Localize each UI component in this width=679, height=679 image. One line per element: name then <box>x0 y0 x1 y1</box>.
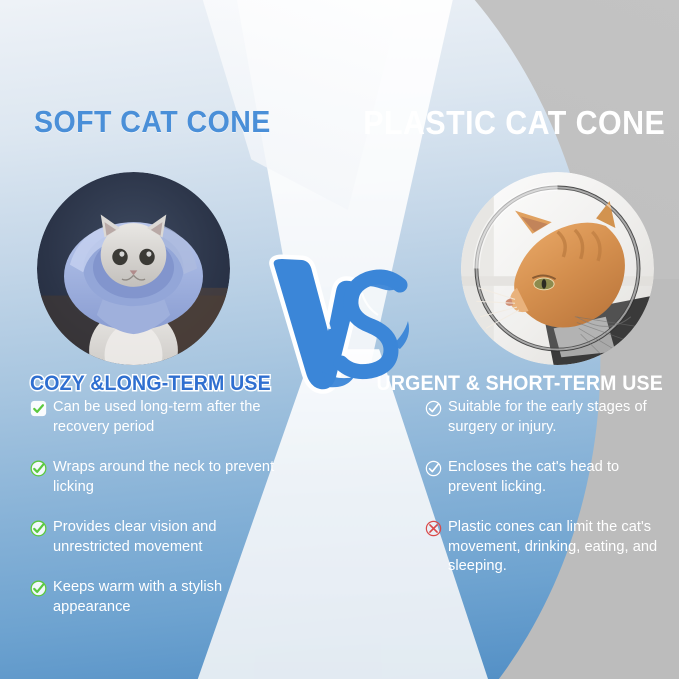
list-item-text: Can be used long-term after the recovery… <box>53 398 280 437</box>
list-item-text: Wraps around the neck to prevent licking <box>53 458 280 497</box>
check-icon <box>30 580 47 597</box>
check-circle-icon <box>425 400 442 417</box>
left-subtitle: COZY &LONG-TERM USE <box>30 372 271 396</box>
list-item: Encloses the cat's head to prevent licki… <box>425 458 663 497</box>
list-item: Provides clear vision and unrestricted m… <box>30 518 280 557</box>
check-circle-icon <box>425 460 442 477</box>
left-title: SOFT CAT CONE <box>34 104 271 140</box>
left-feature-list: Can be used long-term after the recovery… <box>30 398 280 638</box>
right-title: PLASTIC CAT CONE <box>363 104 665 142</box>
left-product-photo <box>37 172 230 365</box>
list-item: Keeps warm with a stylish appearance <box>30 578 280 617</box>
check-icon <box>30 400 47 417</box>
check-icon <box>30 520 47 537</box>
list-item-text: Provides clear vision and unrestricted m… <box>53 518 280 557</box>
cross-circle-icon <box>425 520 442 537</box>
list-item: Plastic cones can limit the cat's moveme… <box>425 518 663 577</box>
vs-badge <box>262 249 422 399</box>
right-product-photo <box>461 172 654 365</box>
check-icon <box>30 460 47 477</box>
list-item: Wraps around the neck to prevent licking <box>30 458 280 497</box>
list-item: Suitable for the early stages of surgery… <box>425 398 663 437</box>
list-item-text: Keeps warm with a stylish appearance <box>53 578 280 617</box>
list-item: Can be used long-term after the recovery… <box>30 398 280 437</box>
list-item-text: Plastic cones can limit the cat's moveme… <box>448 518 663 577</box>
right-feature-list: Suitable for the early stages of surgery… <box>425 398 663 598</box>
list-item-text: Encloses the cat's head to prevent licki… <box>448 458 663 497</box>
comparison-infographic: SOFT CAT CONE <box>0 0 679 679</box>
list-item-text: Suitable for the early stages of surgery… <box>448 398 663 437</box>
